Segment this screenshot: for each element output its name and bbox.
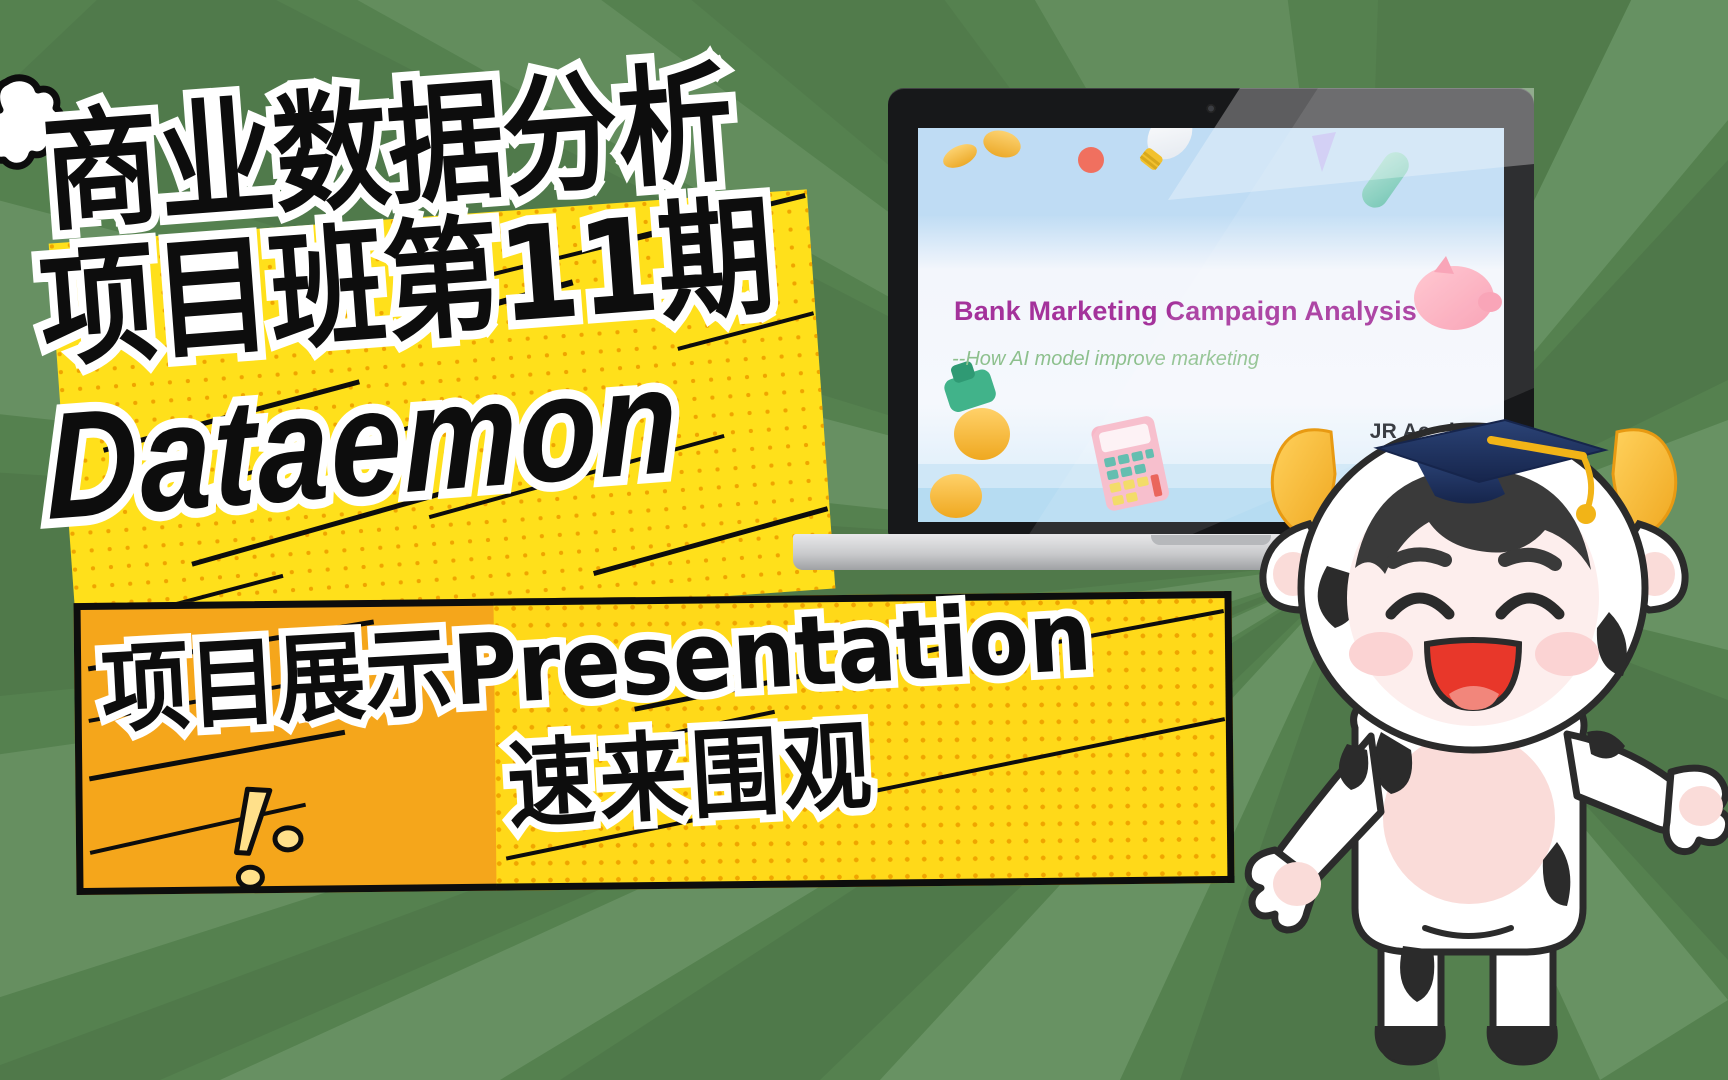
headline-block: 商业数据分析 项目班第11期 Dataemon — [14, 54, 923, 533]
slide-subtitle: --How AI model improve marketing — [952, 348, 1259, 371]
thumbnail-canvas: 商业数据分析 项目班第11期 Dataemon — [0, 0, 1728, 1080]
slide-title: Bank Marketing Campaign Analysis — [954, 296, 1417, 327]
mascot-cow-character — [1205, 398, 1728, 1080]
webcam-icon — [1207, 104, 1216, 113]
mascot-right-arm — [1567, 731, 1728, 852]
